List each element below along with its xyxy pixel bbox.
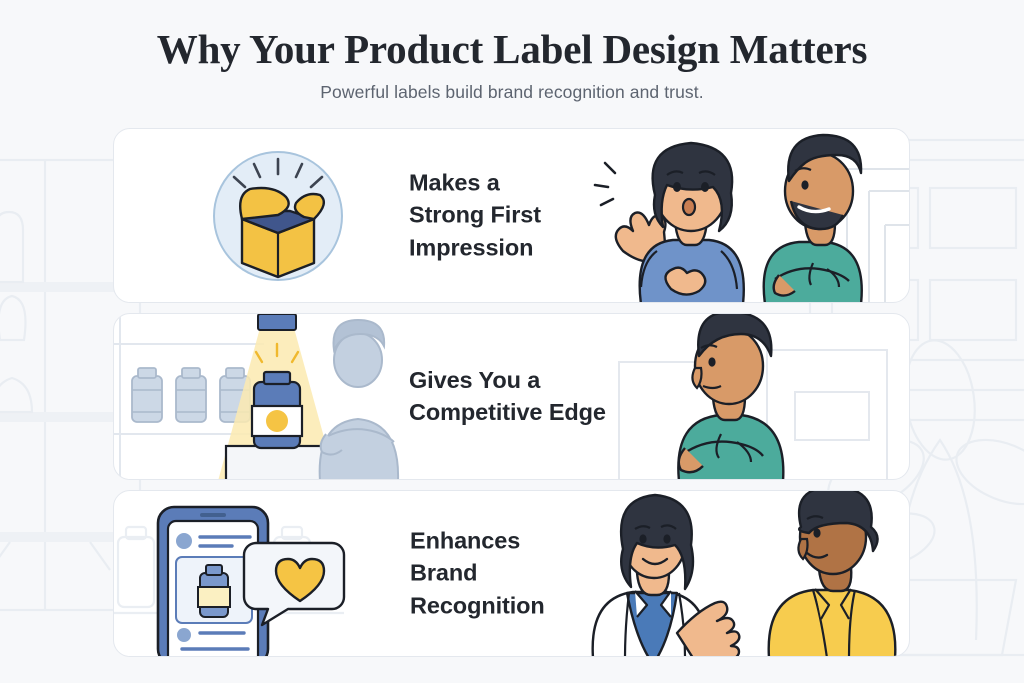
page-subtitle: Powerful labels build brand recognition … [0, 82, 1024, 103]
card-3-artwork-people [579, 491, 909, 656]
card-1-artwork-people [579, 129, 909, 302]
card-1-artwork-left [114, 129, 414, 302]
open-box-icon [114, 129, 414, 303]
card-2-artwork-left [114, 314, 414, 479]
benefit-card-first-impression[interactable]: Makes a Strong First Impression [113, 128, 910, 303]
benefit-card-competitive-edge[interactable]: Gives You a Competitive Edge [113, 313, 910, 480]
man-arms-crossed-icon [579, 314, 909, 480]
card-2-artwork-people [579, 314, 909, 479]
two-people-talking-icon [579, 129, 909, 303]
spotlight-bottle-icon [114, 314, 414, 480]
benefit-card-list: Makes a Strong First Impression [113, 128, 910, 657]
page-title: Why Your Product Label Design Matters [0, 26, 1024, 73]
benefit-card-brand-recognition[interactable]: Enhances Brand Recognition [113, 490, 910, 657]
card-3-artwork-left [114, 491, 414, 656]
pharmacist-and-customer-icon [579, 491, 909, 657]
page-header: Why Your Product Label Design Matters Po… [0, 26, 1024, 103]
smartphone-heart-icon [114, 491, 414, 657]
